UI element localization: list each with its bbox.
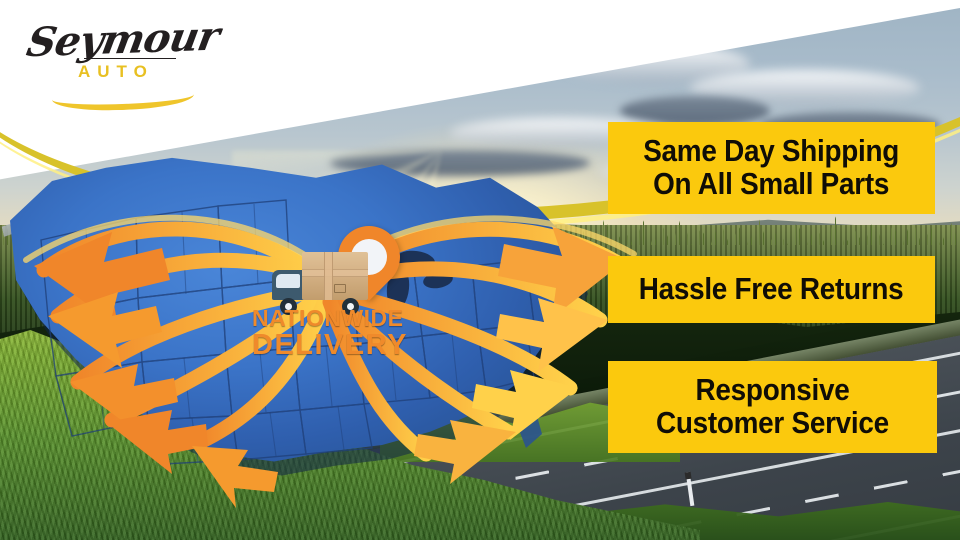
truck-window bbox=[276, 274, 300, 288]
callout-hassle-free-returns[interactable]: Hassle Free Returns bbox=[608, 256, 935, 323]
callout-responsive-customer-service[interactable]: Responsive Customer Service bbox=[608, 361, 937, 453]
box-label-icon bbox=[334, 284, 346, 293]
callout-line: On All Small Parts bbox=[654, 168, 890, 201]
callout-line: Responsive bbox=[696, 374, 850, 407]
banner-stage: Seymour AUTO bbox=[0, 0, 960, 540]
box-tape-vertical bbox=[324, 252, 333, 300]
box-tape-horizontal bbox=[302, 269, 368, 277]
brand-logo[interactable]: Seymour AUTO bbox=[22, 14, 202, 96]
callout-line: Hassle Free Returns bbox=[639, 273, 904, 306]
headline-nationwide: NATIONWIDE bbox=[252, 306, 402, 330]
logo-underline bbox=[84, 58, 176, 59]
headline-delivery: DELIVERY bbox=[252, 330, 402, 360]
callout-line: Same Day Shipping bbox=[644, 135, 900, 168]
nationwide-delivery-label: NATIONWIDE DELIVERY bbox=[252, 306, 402, 361]
logo-subtext: AUTO bbox=[78, 62, 154, 82]
callout-same-day-shipping[interactable]: Same Day Shipping On All Small Parts bbox=[608, 122, 935, 214]
callout-line: Customer Service bbox=[656, 407, 889, 440]
